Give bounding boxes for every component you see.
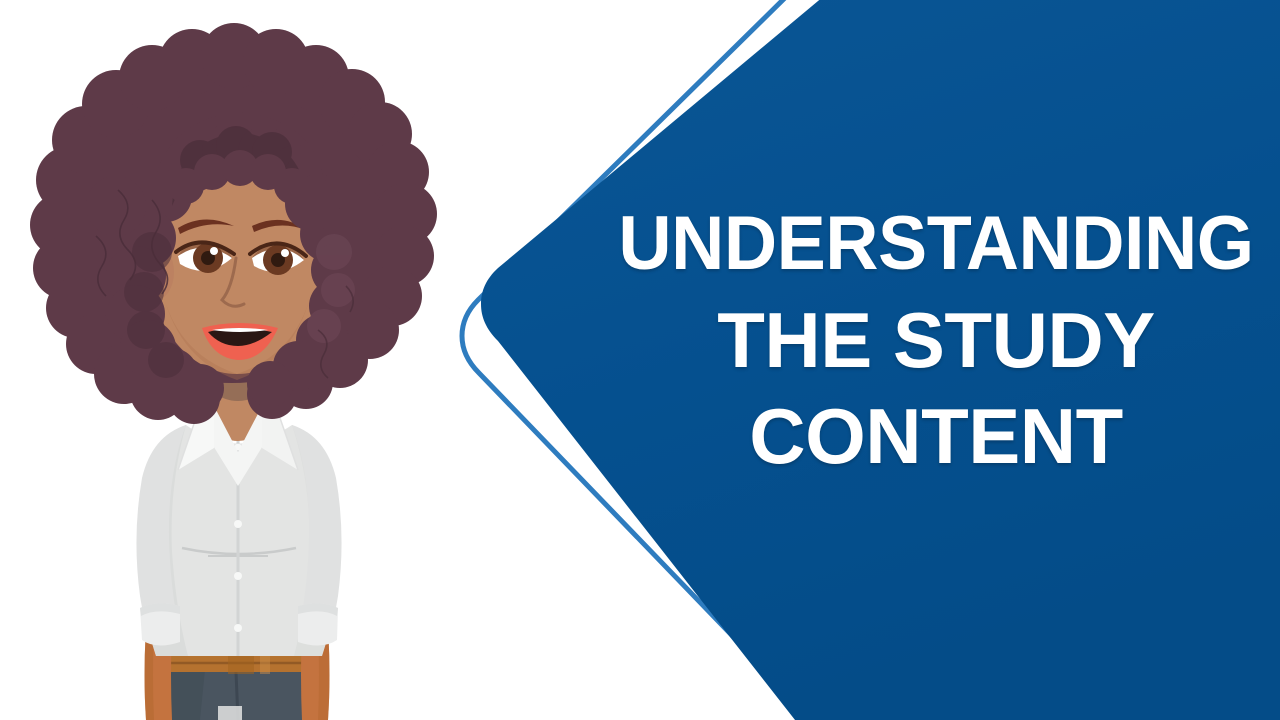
banner-fill-path: [481, 0, 1280, 720]
presenter-svg: [0, 0, 470, 720]
slide-canvas: UNDERSTANDING THE STUDY CONTENT: [0, 0, 1280, 720]
female-presenter-illustration: [0, 0, 470, 720]
